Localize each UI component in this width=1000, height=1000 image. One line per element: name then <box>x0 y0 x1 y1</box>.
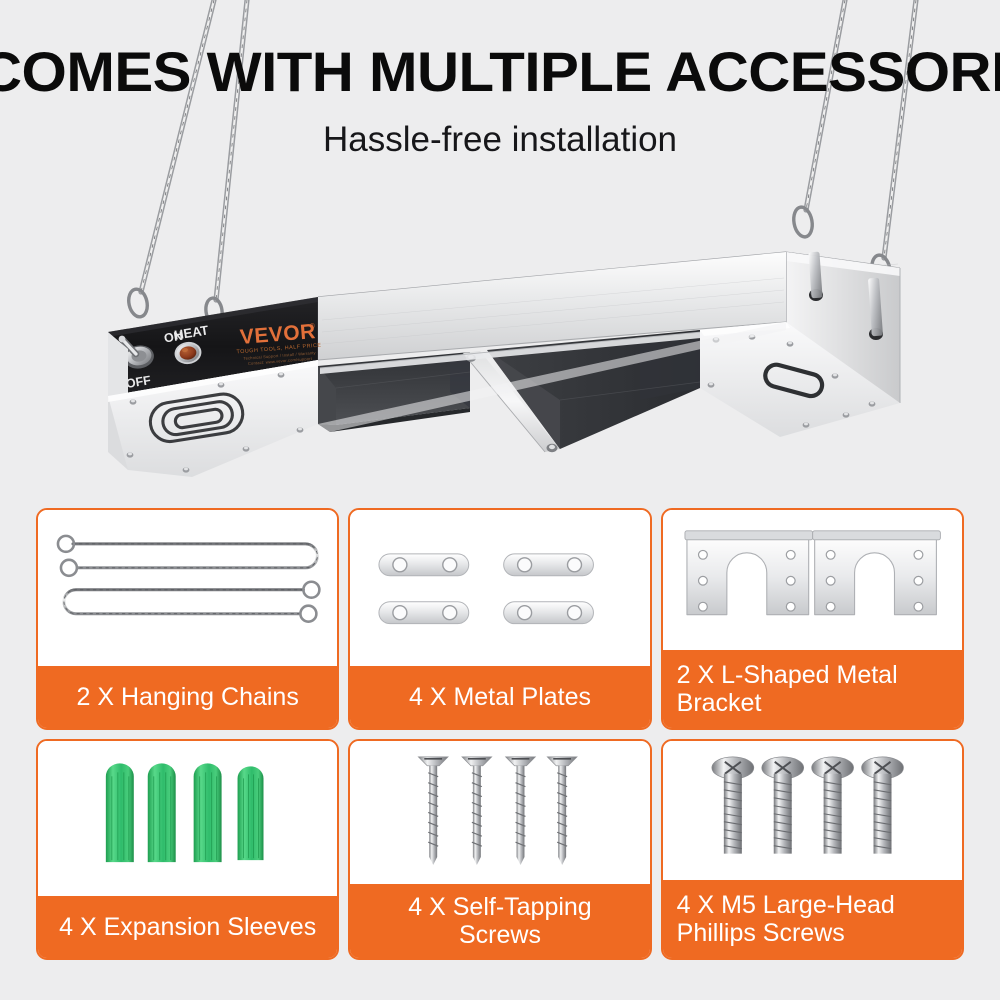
accessory-card-metal-plates[interactable]: 4 X Metal Plates <box>348 508 651 730</box>
accessory-card-l-shaped-bracket[interactable]: 2 X L-Shaped Metal Bracket <box>661 508 964 730</box>
chain-ring-3 <box>303 582 319 598</box>
metal-plate-2 <box>504 554 594 576</box>
expansion-sleeve-3 <box>194 763 222 862</box>
accessory-grid: 2 X Hanging Chains <box>36 508 964 960</box>
vevor-brand-logo: VEVOR ® TOUGH TOOLS, HALF PRICE Technica… <box>234 320 322 367</box>
l-bracket-2 <box>812 531 940 615</box>
chain-ring-4 <box>300 606 316 622</box>
self-tapping-screw-1 <box>419 756 449 864</box>
self-tapping-screw-3 <box>506 756 536 864</box>
accessory-label-self-tapping-screws: 4 X Self-Tapping Screws <box>350 884 649 958</box>
accessory-card-self-tapping-screws[interactable]: 4 X Self-Tapping Screws <box>348 739 651 961</box>
product-marketing-image: COMES WITH MULTIPLE ACCESSORIES Hassle-f… <box>0 0 1000 1000</box>
accessory-label-l-shaped-bracket: 2 X L-Shaped Metal Bracket <box>663 650 962 728</box>
metal-plate-4 <box>504 602 594 624</box>
accessory-card-hanging-chains[interactable]: 2 X Hanging Chains <box>36 508 339 730</box>
accessory-label-metal-plates: 4 X Metal Plates <box>350 666 649 728</box>
self-tapping-screw-2 <box>462 756 492 864</box>
chain-coil-upper <box>73 544 317 568</box>
pan-head-screw-3 <box>811 756 853 853</box>
expansion-sleeve-1 <box>106 763 134 862</box>
accessory-image-hanging-chains <box>38 510 337 666</box>
chain-ring-2 <box>61 560 77 576</box>
accessory-image-self-tapping-screws <box>350 741 649 885</box>
self-tapping-screw-4 <box>548 756 578 864</box>
accessory-image-metal-plates <box>350 510 649 666</box>
hero-section: COMES WITH MULTIPLE ACCESSORIES Hassle-f… <box>0 0 1000 500</box>
accessory-label-m5-phillips-screws: 4 X M5 Large-Head Phillips Screws <box>663 880 962 958</box>
pan-head-screw-4 <box>861 756 903 853</box>
metal-plate-3 <box>379 602 469 624</box>
expansion-sleeve-4 <box>238 766 264 860</box>
accessory-image-l-shaped-bracket <box>663 510 962 650</box>
expansion-sleeve-2 <box>148 763 176 862</box>
accessory-card-expansion-sleeves[interactable]: 4 X Expansion Sleeves <box>36 739 339 961</box>
accessory-label-hanging-chains: 2 X Hanging Chains <box>38 666 337 728</box>
pan-head-screw-1 <box>712 756 754 853</box>
l-bracket-1 <box>685 531 813 615</box>
accessory-image-m5-phillips-screws <box>663 741 962 881</box>
chain-coil-lower <box>64 590 303 614</box>
accessory-label-expansion-sleeves: 4 X Expansion Sleeves <box>38 896 337 958</box>
headline: COMES WITH MULTIPLE ACCESSORIES <box>0 44 1000 100</box>
pan-head-screw-2 <box>761 756 803 853</box>
accessory-card-m5-phillips-screws[interactable]: 4 X M5 Large-Head Phillips Screws <box>661 739 964 961</box>
accessory-image-expansion-sleeves <box>38 741 337 897</box>
subheadline: Hassle-free installation <box>0 120 1000 160</box>
metal-plate-1 <box>379 554 469 576</box>
